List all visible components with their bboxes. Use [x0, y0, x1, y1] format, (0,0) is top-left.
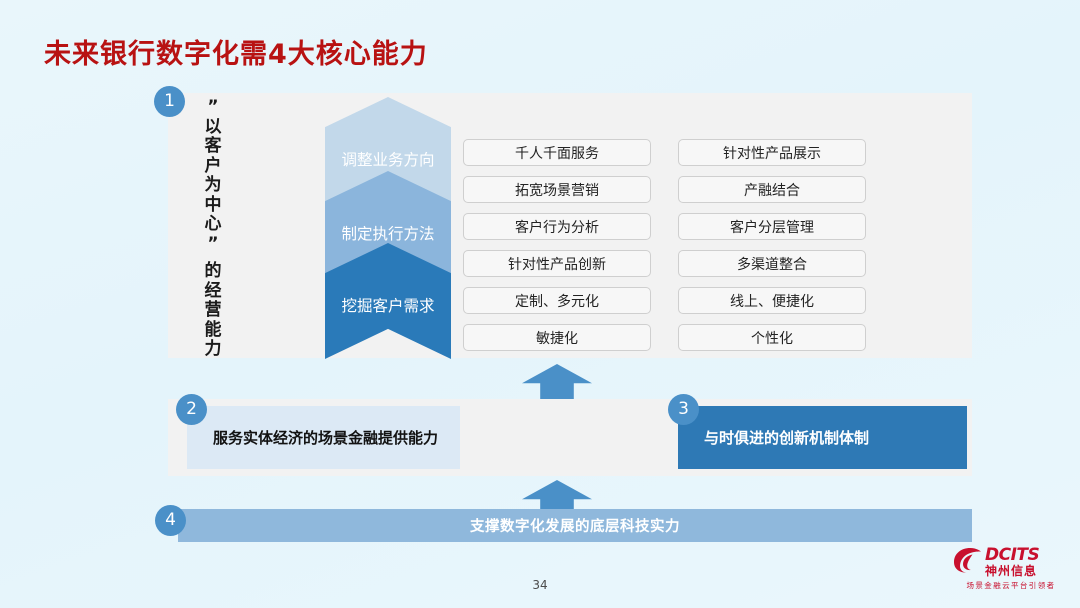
capability-pill[interactable]: 个性化: [678, 324, 866, 351]
up-arrow-icon: [522, 364, 592, 404]
vertical-headline: ” 以 客 户 为 中 心 ” 的 经 营 能 力: [196, 98, 230, 356]
capability-pill[interactable]: 线上、便捷化: [678, 287, 866, 314]
vertical-char: 心: [196, 215, 230, 235]
slide-canvas: 未来银行数字化需4大核心能力 1 ” 以 客 户 为 中 心 ” 的 经 营 能…: [0, 0, 1080, 608]
vertical-char: 中: [196, 196, 230, 216]
badge-3: 3: [668, 394, 699, 425]
section-2-label: 服务实体经济的场景金融提供能力: [213, 427, 438, 448]
capability-pill[interactable]: 定制、多元化: [463, 287, 651, 314]
capability-pill[interactable]: 产融结合: [678, 176, 866, 203]
vertical-char: ”: [196, 98, 230, 118]
section-2-box[interactable]: 服务实体经济的场景金融提供能力: [187, 406, 460, 469]
section-3-label: 与时俱进的创新机制体制: [704, 427, 869, 448]
capability-list-left: 千人千面服务 拓宽场景营销 客户行为分析 针对性产品创新 定制、多元化 敏捷化: [463, 139, 651, 361]
badge-1: 1: [154, 86, 185, 117]
chevron-label: 挖掘客户需求: [341, 294, 434, 316]
vertical-char: 力: [196, 340, 230, 360]
vertical-char: 经: [196, 282, 230, 302]
swoosh-icon: [952, 547, 982, 574]
capability-pill[interactable]: 客户行为分析: [463, 213, 651, 240]
capability-pill[interactable]: 针对性产品创新: [463, 250, 651, 277]
section-4-bar[interactable]: 支撑数字化发展的底层科技实力: [178, 509, 972, 542]
page-title: 未来银行数字化需4大核心能力: [44, 32, 428, 71]
vertical-char: 营: [196, 301, 230, 321]
logo-tagline: 场景金融云平台引领者: [952, 580, 1070, 591]
vertical-char: 为: [196, 176, 230, 196]
vertical-char: 客: [196, 137, 230, 157]
badge-2: 2: [176, 394, 207, 425]
badge-4: 4: [155, 505, 186, 536]
vertical-char: 的: [196, 262, 230, 282]
capability-pill[interactable]: 多渠道整合: [678, 250, 866, 277]
page-number: 34: [0, 578, 1080, 592]
capability-pill[interactable]: 拓宽场景营销: [463, 176, 651, 203]
capability-pill[interactable]: 敏捷化: [463, 324, 651, 351]
chevron-label: 制定执行方法: [341, 222, 434, 244]
capability-list-right: 针对性产品展示 产融结合 客户分层管理 多渠道整合 线上、便捷化 个性化: [678, 139, 866, 361]
vertical-char: 户: [196, 157, 230, 177]
logo-brand-en: DCITS: [985, 547, 1039, 564]
logo-text-block: DCITS 神州信息: [985, 547, 1039, 577]
logo-row: DCITS 神州信息: [952, 547, 1070, 577]
logo-brand-cn: 神州信息: [985, 565, 1039, 577]
chevron-label: 调整业务方向: [341, 148, 434, 170]
chevron-stack: 调整业务方向 制定执行方法 挖掘客户需求: [325, 97, 451, 355]
vertical-char: 以: [196, 118, 230, 138]
section-4-label: 支撑数字化发展的底层科技实力: [470, 515, 680, 536]
capability-pill[interactable]: 客户分层管理: [678, 213, 866, 240]
vertical-char: ”: [196, 235, 230, 255]
capability-pill[interactable]: 针对性产品展示: [678, 139, 866, 166]
company-logo: DCITS 神州信息 场景金融云平台引领者: [952, 547, 1070, 595]
capability-pill[interactable]: 千人千面服务: [463, 139, 651, 166]
vertical-char: 能: [196, 321, 230, 341]
section-3-box[interactable]: 与时俱进的创新机制体制: [678, 406, 967, 469]
